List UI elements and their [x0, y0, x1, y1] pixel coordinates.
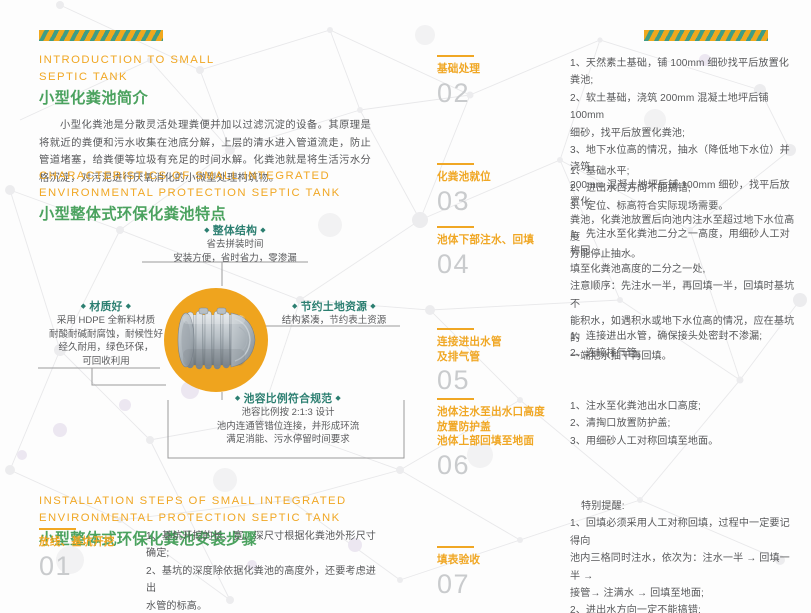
intro-english-title-line2: SEPTIC TANK: [39, 71, 128, 83]
install-step-06-number: 06: [437, 450, 570, 480]
install-step-03-line3: 3、定位、标高符合实际现场需要。: [570, 198, 797, 215]
step-rule: [437, 226, 474, 228]
install-step-03-line1: 1、基础水平;: [570, 163, 797, 180]
install-step-06-label-line3: 池体上部回填至地面: [437, 435, 534, 447]
install-step-02-number: 02: [437, 78, 570, 108]
install-step-01-label: 放线、基坑开挖: [39, 535, 146, 550]
install-step-01-line2: 2、基坑的深度除依据化粪池的高度外，还要考虑进出: [146, 563, 384, 598]
install-step-05-label-line1: 连接进出水管: [437, 336, 502, 348]
septic-tank-icon: [173, 307, 261, 375]
install-step-07-label: 填表验收: [437, 553, 570, 568]
install-step-03-body: 1、基础水平; 2、进出水口方向不能搞错; 3、定位、标高符合实际现场需要。: [570, 163, 797, 216]
install-step-06: 池体注水至出水口高度 放置防护盖 池体上部回填至地面 06 1、注水至化粪池出水…: [437, 398, 797, 480]
install-step-05-label-line2: 及排气管: [437, 351, 480, 363]
install-step-05-header: 连接进出水管 及排气管 05: [437, 328, 570, 395]
install-step-04-line1: 1、先注水至化粪池二分之一高度，用细砂人工对称回: [570, 226, 797, 261]
install-step-02-line2: 2、软土基础，浇筑 200mm 混凝土地坪后铺 100mm: [570, 90, 797, 125]
install-step-03: 化粪池就位 03 1、基础水平; 2、进出水口方向不能搞错; 3、定位、标高符合…: [437, 163, 797, 216]
poster-page: INTRODUCTION TO SMALL SEPTIC TANK 小型化粪池简…: [0, 0, 811, 613]
install-step-06-label-line1: 池体注水至出水口高度: [437, 406, 545, 418]
intro-english-title: INTRODUCTION TO SMALL SEPTIC TANK: [39, 52, 371, 85]
install-step-05-line2: 2、连接排气管。: [570, 345, 797, 362]
install-step-05-label: 连接进出水管 及排气管: [437, 335, 570, 364]
characteristics-diagram: ◆整体结构◆ 省去拼装时间 安装方便，省时省力，零渗漏 ◆材质好◆ 采用 HDP…: [0, 222, 411, 472]
intro-section: INTRODUCTION TO SMALL SEPTIC TANK 小型化粪池简…: [39, 52, 371, 187]
stripe-decoration-right: [644, 30, 768, 41]
step-rule: [39, 528, 76, 530]
characteristics-english-title-line1: CHARACTERISTICS OF SMALL INTEGRATED: [39, 170, 330, 182]
install-step-01-line1: 1、基坑开挖的长、宽、深尺寸根据化粪池外形尺寸确定;: [146, 528, 384, 563]
intro-english-title-line1: INTRODUCTION TO SMALL: [39, 54, 215, 66]
installation-english-title: INSTALLATION STEPS OF SMALL INTEGRATED E…: [39, 493, 389, 526]
install-step-04-line3: 注意顺序：先注水一半，再回填一半，回填时基坑不: [570, 278, 797, 313]
install-step-07-line2: 1、回填必须采用人工对称回填，过程中一定要记得向: [570, 515, 797, 550]
install-step-06-line3: 3、用细砂人工对称回填至地面。: [570, 433, 797, 450]
install-step-04-number: 04: [437, 249, 570, 279]
install-step-07-line4: 接管→ 注满水 → 回填至地面;: [570, 585, 797, 602]
install-step-07-header: 填表验收 07: [437, 498, 570, 613]
install-step-03-header: 化粪池就位 03: [437, 163, 570, 216]
install-step-03-line2: 2、进出水口方向不能搞错;: [570, 180, 797, 197]
characteristics-english-title-line2: ENVIRONMENTAL PROTECTION SEPTIC TANK: [39, 187, 341, 199]
install-step-06-label: 池体注水至出水口高度 放置防护盖 池体上部回填至地面: [437, 405, 570, 449]
install-step-06-label-line2: 放置防护盖: [437, 421, 491, 433]
intro-chinese-title: 小型化粪池简介: [39, 88, 371, 110]
install-step-03-number: 03: [437, 186, 570, 216]
characteristics-english-title: CHARACTERISTICS OF SMALL INTEGRATED ENVI…: [39, 168, 389, 201]
install-step-01-number: 01: [39, 551, 146, 581]
installation-english-title-line2: ENVIRONMENTAL PROTECTION SEPTIC TANK: [39, 512, 341, 524]
install-step-05-number: 05: [437, 365, 570, 395]
install-step-06-line1: 1、注水至化粪池出水口高度;: [570, 398, 797, 415]
install-step-06-line2: 2、清掏口放置防护盖;: [570, 415, 797, 432]
septic-tank-circle-badge: [164, 288, 268, 392]
install-step-07-line1: 特别提醒:: [570, 498, 797, 515]
install-step-06-body: 1、注水至化粪池出水口高度; 2、清掏口放置防护盖; 3、用细砂人工对称回填至地…: [570, 398, 797, 480]
install-step-06-header: 池体注水至出水口高度 放置防护盖 池体上部回填至地面 06: [437, 398, 570, 480]
install-step-01-line3: 水管的标高。: [146, 598, 384, 613]
install-step-07-line3: 池内三格同时注水，依次为：注水一半 → 回填一半 →: [570, 550, 797, 585]
install-step-05-line1: 1、连接进出水管，确保接头处密封不渗漏;: [570, 328, 797, 345]
install-step-04-line2: 填至化粪池高度的二分之一处,: [570, 261, 797, 278]
install-step-07: 填表验收 07 特别提醒: 1、回填必须采用人工对称回填，过程中一定要记得向 池…: [437, 498, 797, 613]
install-step-02-label: 基础处理: [437, 62, 570, 77]
install-step-02-line3: 细砂，找平后放置化粪池;: [570, 125, 797, 142]
install-step-05-body: 1、连接进出水管，确保接头处密封不渗漏; 2、连接排气管。: [570, 328, 797, 395]
step-rule: [437, 328, 474, 330]
step-rule: [437, 398, 474, 400]
install-step-01-header: 放线、基坑开挖 01: [39, 528, 146, 613]
characteristics-section: CHARACTERISTICS OF SMALL INTEGRATED ENVI…: [39, 168, 389, 226]
install-step-05: 连接进出水管 及排气管 05 1、连接进出水管，确保接头处密封不渗漏; 2、连接…: [437, 328, 797, 395]
step-rule: [437, 546, 474, 548]
install-step-01: 放线、基坑开挖 01 1、基坑开挖的长、宽、深尺寸根据化粪池外形尺寸确定; 2、…: [39, 528, 384, 613]
step-rule: [437, 163, 474, 165]
stripe-decoration-left: [39, 30, 163, 41]
install-step-02-line1: 1、天然素土基础，铺 100mm 细砂找平后放置化粪池;: [570, 55, 797, 90]
install-step-07-number: 07: [437, 569, 570, 599]
install-step-01-body: 1、基坑开挖的长、宽、深尺寸根据化粪池外形尺寸确定; 2、基坑的深度除依据化粪池…: [146, 528, 384, 613]
install-step-07-line5: 2、进出水方向一定不能搞错;: [570, 602, 797, 613]
installation-english-title-line1: INSTALLATION STEPS OF SMALL INTEGRATED: [39, 495, 347, 507]
install-step-04-label: 池体下部注水、回填: [437, 233, 570, 248]
install-step-07-body: 特别提醒: 1、回填必须采用人工对称回填，过程中一定要记得向 池内三格同时注水，…: [570, 498, 797, 613]
install-step-03-label: 化粪池就位: [437, 170, 570, 185]
step-rule: [437, 55, 474, 57]
